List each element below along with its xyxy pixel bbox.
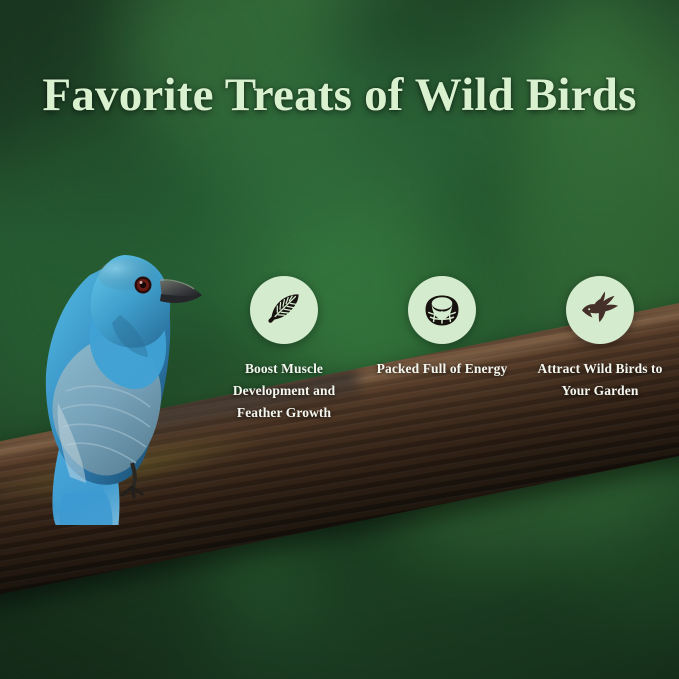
flying-bird-icon <box>566 276 634 344</box>
feature-label: Packed Full of Energy <box>377 358 508 380</box>
product-image-canvas: Favorite Treats of Wild Birds <box>0 0 679 679</box>
page-title: Favorite Treats of Wild Birds <box>0 72 679 119</box>
suet-ball-icon <box>408 276 476 344</box>
feature-label: Boost Muscle Development and Feather Gro… <box>209 358 359 424</box>
feature-item-attract-birds: Attract Wild Birds to Your Garden <box>521 276 679 402</box>
feature-item-energy: Packed Full of Energy <box>363 276 521 380</box>
feature-list: Boost Muscle Development and Feather Gro… <box>205 276 679 424</box>
feature-label: Attract Wild Birds to Your Garden <box>525 358 675 402</box>
feature-item-muscle-feather: Boost Muscle Development and Feather Gro… <box>205 276 363 424</box>
feather-icon <box>250 276 318 344</box>
